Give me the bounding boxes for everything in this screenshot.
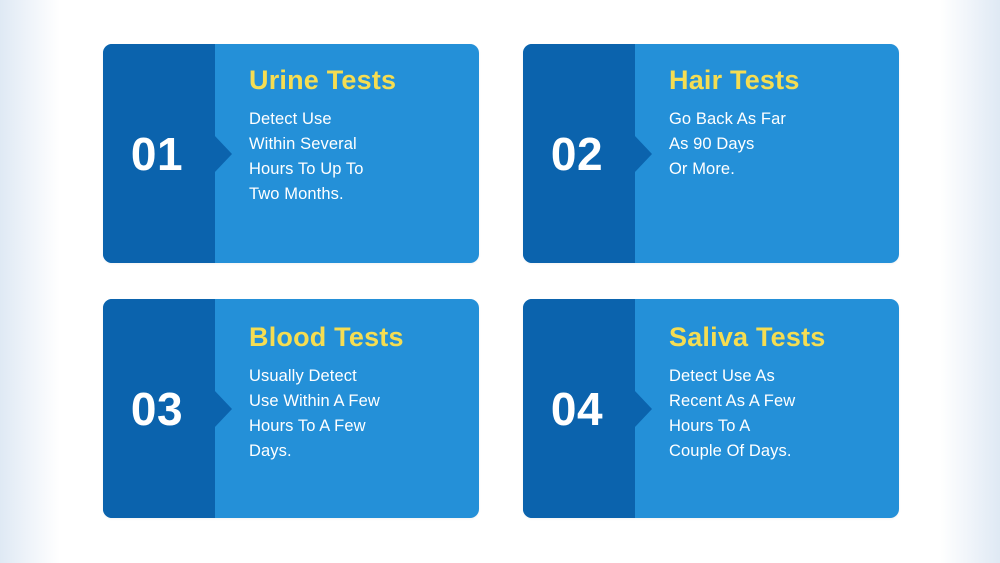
card-number: 04 — [551, 386, 603, 432]
card-title: Urine Tests — [249, 66, 461, 96]
arrow-notch-icon — [634, 390, 652, 428]
card-content: Hair Tests Go Back As Far As 90 Days Or … — [635, 44, 899, 263]
infographic-board: 01 Urine Tests Detect Use Within Several… — [60, 0, 940, 563]
card-number-panel: 02 — [523, 44, 635, 263]
right-edge-glow — [940, 0, 1000, 563]
card-title: Hair Tests — [669, 66, 881, 96]
arrow-notch-icon — [214, 390, 232, 428]
card-urine-tests[interactable]: 01 Urine Tests Detect Use Within Several… — [103, 44, 479, 263]
arrow-notch-icon — [214, 135, 232, 173]
card-description: Detect Use Within Several Hours To Up To… — [249, 107, 461, 207]
card-number: 02 — [551, 131, 603, 177]
arrow-notch-icon — [634, 135, 652, 173]
left-edge-glow — [0, 0, 60, 563]
card-blood-tests[interactable]: 03 Blood Tests Usually Detect Use Within… — [103, 299, 479, 518]
card-content: Urine Tests Detect Use Within Several Ho… — [215, 44, 479, 263]
card-hair-tests[interactable]: 02 Hair Tests Go Back As Far As 90 Days … — [523, 44, 899, 263]
card-description: Detect Use As Recent As A Few Hours To A… — [669, 364, 881, 464]
card-number-panel: 01 — [103, 44, 215, 263]
card-number-panel: 04 — [523, 299, 635, 518]
card-title: Saliva Tests — [669, 323, 881, 353]
card-number-panel: 03 — [103, 299, 215, 518]
card-description: Usually Detect Use Within A Few Hours To… — [249, 364, 461, 464]
infographic-page: 01 Urine Tests Detect Use Within Several… — [0, 0, 1000, 563]
card-number: 01 — [131, 131, 183, 177]
card-content: Blood Tests Usually Detect Use Within A … — [215, 299, 479, 518]
card-saliva-tests[interactable]: 04 Saliva Tests Detect Use As Recent As … — [523, 299, 899, 518]
card-description: Go Back As Far As 90 Days Or More. — [669, 107, 881, 182]
card-title: Blood Tests — [249, 323, 461, 353]
card-grid: 01 Urine Tests Detect Use Within Several… — [103, 44, 899, 518]
card-content: Saliva Tests Detect Use As Recent As A F… — [635, 299, 899, 518]
card-number: 03 — [131, 386, 183, 432]
